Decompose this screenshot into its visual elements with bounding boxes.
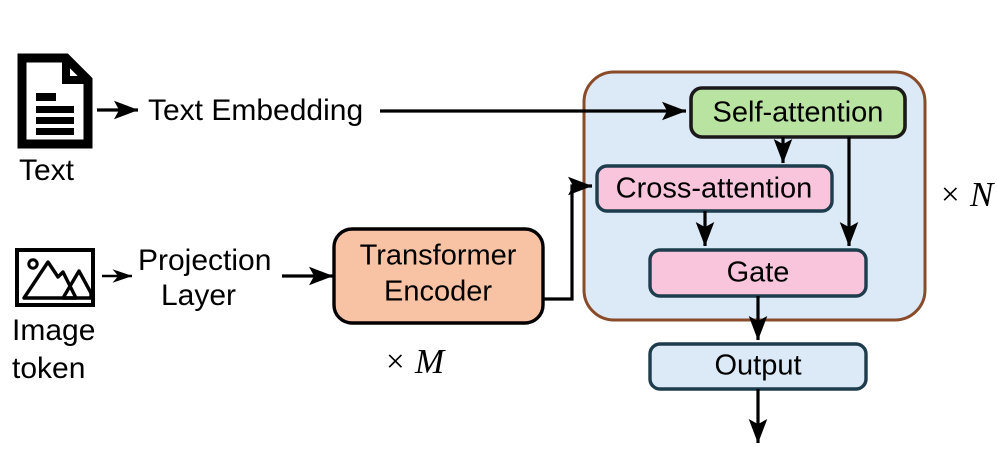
encoder-repeat-label: × M: [386, 342, 446, 381]
image-icon: [17, 250, 93, 305]
output-block: Output: [650, 344, 866, 389]
output-label: Output: [714, 350, 801, 382]
projection-layer-line1: Projection: [138, 244, 271, 277]
decoder-repeat-variable: N: [969, 175, 995, 214]
text-input-caption: Text: [19, 154, 75, 187]
diagram-canvas: Text Text Embedding Image token Projecti…: [0, 0, 997, 463]
self-attention-block: Self-attention: [691, 88, 905, 137]
decoder-repeat-label: × N: [941, 175, 995, 214]
cross-attention-label: Cross-attention: [616, 173, 813, 205]
gate-block: Gate: [650, 250, 866, 296]
gate-label: Gate: [727, 257, 790, 289]
cross-attention-block: Cross-attention: [597, 166, 832, 211]
encoder-repeat-variable: M: [414, 342, 446, 381]
encoder-repeat-symbol: ×: [386, 344, 405, 380]
text-embedding-label: Text Embedding: [148, 94, 363, 127]
image-input-caption-line2: token: [12, 352, 85, 385]
projection-layer-line2: Layer: [161, 279, 236, 312]
document-icon: [22, 58, 88, 144]
transformer-encoder-block: Transformer Encoder: [334, 229, 543, 323]
decoder-repeat-symbol: ×: [941, 177, 960, 213]
transformer-encoder-label-line1: Transformer: [360, 240, 517, 272]
transformer-encoder-label-line2: Encoder: [384, 276, 492, 308]
image-input-caption-line1: Image: [12, 314, 95, 347]
self-attention-label: Self-attention: [713, 97, 884, 129]
architecture-diagram: Text Text Embedding Image token Projecti…: [0, 0, 997, 463]
